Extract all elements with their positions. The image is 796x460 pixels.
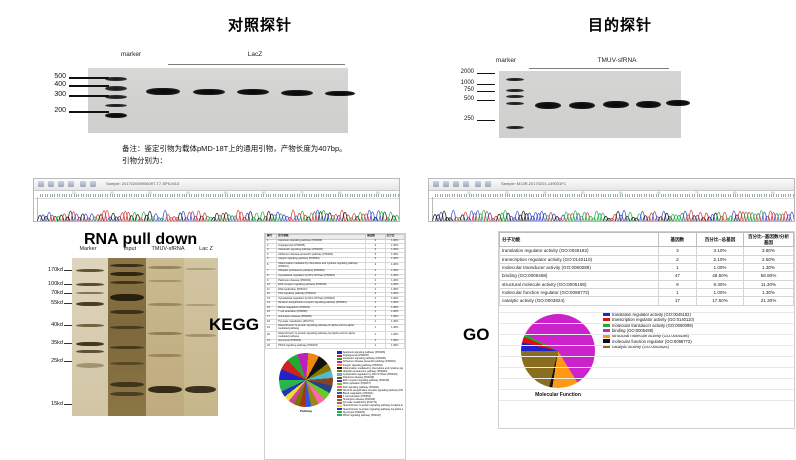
pulldown-marker-label: 15kd bbox=[35, 401, 63, 407]
legend-item: molecular function regulator (GO:0098772… bbox=[603, 339, 694, 344]
ladder-tick bbox=[477, 73, 495, 74]
go-cell: 1.00% bbox=[696, 289, 743, 297]
legend-swatch bbox=[337, 402, 342, 404]
legend-swatch bbox=[337, 370, 342, 372]
grid-line bbox=[499, 356, 794, 357]
ladder-tick bbox=[477, 120, 495, 121]
table-row: 19Heterotrimeric G-protein signaling pat… bbox=[266, 324, 405, 332]
go-cell: 1 bbox=[658, 289, 696, 297]
input-band bbox=[110, 294, 144, 301]
pulldown-lane-label: Marker bbox=[73, 246, 103, 252]
go-col-genecount: 基因数 bbox=[658, 233, 696, 247]
print-icon[interactable] bbox=[463, 181, 469, 187]
chromatogram-sample-title: Sample: 20170209090609T-T7-SP6-M13 bbox=[106, 181, 179, 186]
go-cell: 2 bbox=[658, 255, 696, 263]
chromatogram-trace bbox=[429, 197, 794, 221]
legend-label: PDGF signaling pathway (P00047) bbox=[343, 414, 382, 417]
kegg-cell: 1 bbox=[366, 324, 385, 332]
ladder-band bbox=[105, 104, 127, 107]
gel-right-marker-label: marker bbox=[486, 57, 526, 64]
gel-right-group-label: TMUV-sfRNA bbox=[552, 57, 682, 64]
legend-swatch bbox=[337, 355, 342, 357]
gel-right-group-rule bbox=[529, 68, 669, 69]
gel-left-group-rule bbox=[168, 64, 345, 65]
input-band bbox=[110, 382, 144, 387]
ladder-band bbox=[506, 89, 524, 92]
ladder-label: 2000 bbox=[444, 69, 474, 75]
legend-swatch bbox=[337, 411, 342, 413]
ladder-tick bbox=[69, 77, 109, 79]
go-table: 分子功能 基因数 百分比--总基因 百分比--基因数/分析基因 translat… bbox=[499, 232, 794, 306]
table-row: molecular transducer activity (GO:006008… bbox=[500, 264, 794, 272]
legend-swatch bbox=[337, 408, 342, 410]
tmuv-band bbox=[148, 303, 182, 306]
kegg-legend: Apoptosis signaling pathway (P00006)Angi… bbox=[337, 351, 403, 417]
gel-right-panel: marker TMUV-sfRNA 2000 1000 750 500 250 bbox=[452, 52, 752, 142]
chromatogram-trace bbox=[34, 197, 399, 221]
sample-band bbox=[535, 102, 561, 109]
pulldown-marker-label: 40kd bbox=[35, 322, 63, 328]
ladder-label: 750 bbox=[444, 87, 474, 93]
ladder-tick bbox=[477, 100, 495, 101]
table-row: catalytic activity (GO:0003824)1717.50%2… bbox=[500, 297, 794, 305]
go-cell: catalytic activity (GO:0003824) bbox=[500, 297, 659, 305]
ladder-band bbox=[506, 78, 524, 81]
go-pie-chart bbox=[521, 314, 595, 388]
ladder-band bbox=[506, 102, 524, 105]
caption-line-2: 引物分别为： bbox=[122, 155, 542, 167]
caption-line-1: 备注：鉴定引物为载体pMD-18T上的通用引物，产物长度为407bp。 bbox=[122, 143, 542, 155]
grid-line bbox=[499, 400, 794, 401]
ladder-tick bbox=[69, 85, 109, 87]
kegg-cell: 1.30% bbox=[385, 324, 404, 332]
save-icon[interactable] bbox=[48, 181, 54, 187]
pulldown-marker-label: 170kd bbox=[35, 267, 63, 273]
input-band bbox=[110, 326, 144, 329]
table-row: translation regulator activity (GO:00451… bbox=[500, 247, 794, 255]
chromatogram-toolbar[interactable]: Sample: 20170209090609T-T7-SP6-M13 bbox=[34, 179, 399, 191]
go-cell: transcription regulator activity (GO:014… bbox=[500, 255, 659, 263]
go-col-pct-analyzed: 百分比--基因数/分析基因 bbox=[744, 233, 794, 247]
legend-swatch bbox=[337, 380, 342, 382]
kegg-cell: 1.30% bbox=[385, 344, 404, 349]
grid-line bbox=[499, 323, 794, 324]
legend-swatch bbox=[337, 367, 342, 369]
ladder-band bbox=[105, 86, 127, 91]
legend-swatch bbox=[603, 339, 610, 343]
lacz-band bbox=[185, 386, 216, 393]
sample-band bbox=[325, 91, 355, 96]
kegg-pie-chart bbox=[279, 353, 333, 407]
legend-swatch bbox=[337, 383, 342, 385]
go-cell: structural molecule activity (GO:0005198… bbox=[500, 280, 659, 288]
legend-swatch bbox=[603, 329, 610, 333]
gel-left-group-label: LacZ bbox=[190, 51, 320, 58]
pulldown-lane-label: TMUV-sfRNA bbox=[145, 246, 191, 252]
export-icon[interactable] bbox=[453, 181, 459, 187]
chromatogram-right: Sample: M13R-20170201-149031F1 102030405… bbox=[428, 178, 795, 222]
grid-line bbox=[499, 389, 794, 390]
legend-item: binding (GO:0005488) bbox=[603, 328, 694, 333]
marker-band bbox=[76, 342, 104, 346]
pulldown-marker-tick bbox=[64, 284, 72, 285]
chromatogram-sample-title: Sample: M13R-20170201-149031F1 bbox=[501, 181, 566, 186]
go-col-pct-total: 百分比--总基因 bbox=[696, 233, 743, 247]
marker-band bbox=[76, 283, 104, 286]
ladder-label: 400 bbox=[40, 81, 66, 88]
gel-left-panel: marker LacZ 500 400 300 200 bbox=[40, 48, 390, 133]
legend-swatch bbox=[337, 364, 342, 366]
next-icon[interactable] bbox=[80, 181, 86, 187]
go-cell: 9.30% bbox=[696, 280, 743, 288]
legend-label: transcription regulator activity (GO:014… bbox=[612, 317, 694, 322]
input-band bbox=[110, 392, 144, 396]
legend-swatch bbox=[337, 373, 342, 375]
print-icon[interactable] bbox=[68, 181, 74, 187]
ladder-label: 200 bbox=[40, 107, 66, 114]
go-cell: 21.30% bbox=[744, 297, 794, 305]
legend-swatch bbox=[337, 395, 342, 397]
open-icon[interactable] bbox=[433, 181, 439, 187]
export-icon[interactable] bbox=[58, 181, 64, 187]
go-col-function: 分子功能 bbox=[500, 233, 659, 247]
ladder-band bbox=[105, 113, 127, 118]
kegg-table: 编号 信号通路 基因数 百分比 1Apoptosis signaling pat… bbox=[265, 234, 405, 349]
grid-line bbox=[499, 312, 794, 313]
pulldown-marker-tick bbox=[64, 293, 72, 294]
kegg-cell: Heterotrimeric G-protein signaling pathw… bbox=[277, 324, 366, 332]
legend-swatch bbox=[337, 377, 342, 379]
kegg-cell: 22 bbox=[266, 344, 277, 349]
ladder-label: 500 bbox=[40, 73, 66, 80]
pulldown-marker-tick bbox=[64, 303, 72, 304]
legend-swatch bbox=[603, 323, 610, 327]
sample-band bbox=[666, 100, 690, 106]
legend-swatch bbox=[337, 392, 342, 394]
kegg-cell: 19 bbox=[266, 324, 277, 332]
go-cell: 11.30% bbox=[744, 280, 794, 288]
gel-left-title: 对照探针 bbox=[170, 14, 350, 35]
sample-band bbox=[146, 88, 180, 95]
go-panel: 分子功能 基因数 百分比--总基因 百分比--基因数/分析基因 translat… bbox=[498, 231, 795, 429]
go-cell: 1.00% bbox=[696, 264, 743, 272]
pulldown-lane-label: Input bbox=[117, 246, 143, 252]
grid-line bbox=[499, 367, 794, 368]
sample-band bbox=[193, 89, 225, 95]
kegg-cell: PDGF signaling pathway (P00047) bbox=[277, 344, 366, 349]
ladder-label: 500 bbox=[444, 96, 474, 102]
pulldown-marker-label: 70kd bbox=[35, 290, 63, 296]
legend-swatch bbox=[337, 386, 342, 388]
pulldown-marker-tick bbox=[64, 325, 72, 326]
gel-right-title: 目的探针 bbox=[530, 14, 710, 35]
go-cell: 3 bbox=[658, 247, 696, 255]
pulldown-gel-image bbox=[72, 258, 218, 416]
go-cell: 47 bbox=[658, 272, 696, 280]
chromatogram-toolbar[interactable]: Sample: M13R-20170201-149031F1 bbox=[429, 179, 794, 191]
legend-swatch bbox=[603, 318, 610, 322]
ladder-label: 300 bbox=[40, 91, 66, 98]
pulldown-lane-label: Lac Z bbox=[193, 246, 219, 252]
input-band bbox=[110, 264, 144, 267]
go-cell: 1.30% bbox=[744, 289, 794, 297]
next-icon[interactable] bbox=[475, 181, 481, 187]
kegg-label: KEGG bbox=[209, 315, 259, 335]
legend-swatch bbox=[337, 389, 342, 391]
ladder-tick bbox=[69, 111, 109, 113]
go-cell: 58.80% bbox=[744, 272, 794, 280]
legend-swatch bbox=[337, 405, 342, 407]
go-cell: 2.50% bbox=[744, 255, 794, 263]
legend-swatch bbox=[337, 351, 342, 353]
ladder-tick bbox=[477, 91, 495, 92]
ladder-band bbox=[506, 126, 524, 129]
legend-swatch bbox=[337, 399, 342, 401]
grid-line bbox=[499, 345, 794, 346]
table-row: transcription regulator activity (GO:014… bbox=[500, 255, 794, 263]
sample-band bbox=[281, 90, 313, 96]
pulldown-marker-label: 100kd bbox=[35, 281, 63, 287]
sample-band bbox=[237, 89, 269, 95]
ladder-label: 1000 bbox=[444, 80, 474, 86]
go-cell: 48.50% bbox=[696, 272, 743, 280]
go-cell: 3.10% bbox=[696, 247, 743, 255]
input-band bbox=[110, 281, 144, 284]
go-cell: 17 bbox=[658, 297, 696, 305]
gel-right-image bbox=[499, 71, 681, 138]
legend-swatch bbox=[337, 358, 342, 360]
ladder-band bbox=[506, 95, 524, 98]
go-cell: 3.80% bbox=[744, 247, 794, 255]
find-icon[interactable] bbox=[485, 181, 491, 187]
legend-label: molecular function regulator (GO:0098772… bbox=[612, 339, 692, 344]
lane-marker bbox=[72, 258, 108, 416]
go-cell: binding (GO:0005488) bbox=[500, 272, 659, 280]
input-band bbox=[110, 346, 144, 349]
input-band bbox=[110, 362, 144, 365]
pulldown-marker-label: 35kd bbox=[35, 340, 63, 346]
legend-swatch bbox=[337, 414, 342, 416]
grid-line bbox=[499, 334, 794, 335]
caption-block: 备注：鉴定引物为载体pMD-18T上的通用引物，产物长度为407bp。 引物分别… bbox=[122, 143, 542, 167]
tmuv-band bbox=[148, 266, 182, 269]
marker-band bbox=[76, 363, 104, 368]
go-cell: 2.10% bbox=[696, 255, 743, 263]
legend-item: transcription regulator activity (GO:014… bbox=[603, 317, 694, 322]
gel-left-marker-label: marker bbox=[108, 51, 154, 58]
go-cell: translation regulator activity (GO:00451… bbox=[500, 247, 659, 255]
pulldown-marker-tick bbox=[64, 404, 72, 405]
chromatogram-left: Sample: 20170209090609T-T7-SP6-M13 10203… bbox=[33, 178, 400, 222]
tmuv-band bbox=[148, 386, 182, 393]
pulldown-marker-tick bbox=[64, 343, 72, 344]
marker-band bbox=[76, 324, 104, 327]
legend-item: PDGF signaling pathway (P00047) bbox=[337, 414, 403, 417]
pulldown-marker-label: 25kd bbox=[35, 358, 63, 364]
go-header-row: 分子功能 基因数 百分比--总基因 百分比--基因数/分析基因 bbox=[500, 233, 794, 247]
kegg-cell: 1 bbox=[366, 344, 385, 349]
marker-band bbox=[76, 302, 104, 306]
sample-band bbox=[636, 101, 661, 108]
legend-swatch bbox=[603, 312, 610, 316]
input-band bbox=[110, 272, 144, 276]
ladder-tick bbox=[69, 95, 109, 97]
go-cell: 17.50% bbox=[696, 297, 743, 305]
tmuv-band bbox=[148, 354, 182, 357]
table-row: binding (GO:0005488)4748.50%58.80% bbox=[500, 272, 794, 280]
gel-left-image bbox=[88, 68, 348, 133]
legend-label: binding (GO:0005488) bbox=[612, 328, 653, 333]
marker-band bbox=[76, 269, 104, 272]
sample-band bbox=[569, 102, 595, 109]
pulldown-marker-label: 55kd bbox=[35, 300, 63, 306]
go-pie-title: Molecular Function bbox=[509, 392, 607, 398]
sample-band bbox=[603, 101, 629, 108]
go-cell: molecular transducer activity (GO:006008… bbox=[500, 264, 659, 272]
pulldown-panel: Marker Input TMUV-sfRNA Lac Z bbox=[45, 246, 260, 451]
save-icon[interactable] bbox=[443, 181, 449, 187]
go-cell: 9 bbox=[658, 280, 696, 288]
table-row: structural molecule activity (GO:0005198… bbox=[500, 280, 794, 288]
kegg-panel: 编号 信号通路 基因数 百分比 1Apoptosis signaling pat… bbox=[264, 233, 406, 460]
ladder-tick bbox=[477, 84, 495, 85]
table-row: molecular function regulator (GO:0098772… bbox=[500, 289, 794, 297]
pulldown-marker-tick bbox=[64, 361, 72, 362]
grid-line bbox=[499, 378, 794, 379]
table-row: 22PDGF signaling pathway (P00047)11.30% bbox=[266, 344, 405, 349]
legend-swatch bbox=[337, 361, 342, 363]
go-cell: 1.30% bbox=[744, 264, 794, 272]
go-cell: 1 bbox=[658, 264, 696, 272]
find-icon[interactable] bbox=[90, 181, 96, 187]
go-cell: molecular function regulator (GO:0098772… bbox=[500, 289, 659, 297]
input-band bbox=[110, 310, 144, 314]
go-label: GO bbox=[463, 325, 489, 345]
kegg-pie-title: Pathway bbox=[271, 409, 341, 413]
open-icon[interactable] bbox=[38, 181, 44, 187]
pulldown-marker-tick bbox=[64, 270, 72, 271]
ladder-label: 250 bbox=[444, 116, 474, 122]
tmuv-band bbox=[148, 332, 182, 335]
